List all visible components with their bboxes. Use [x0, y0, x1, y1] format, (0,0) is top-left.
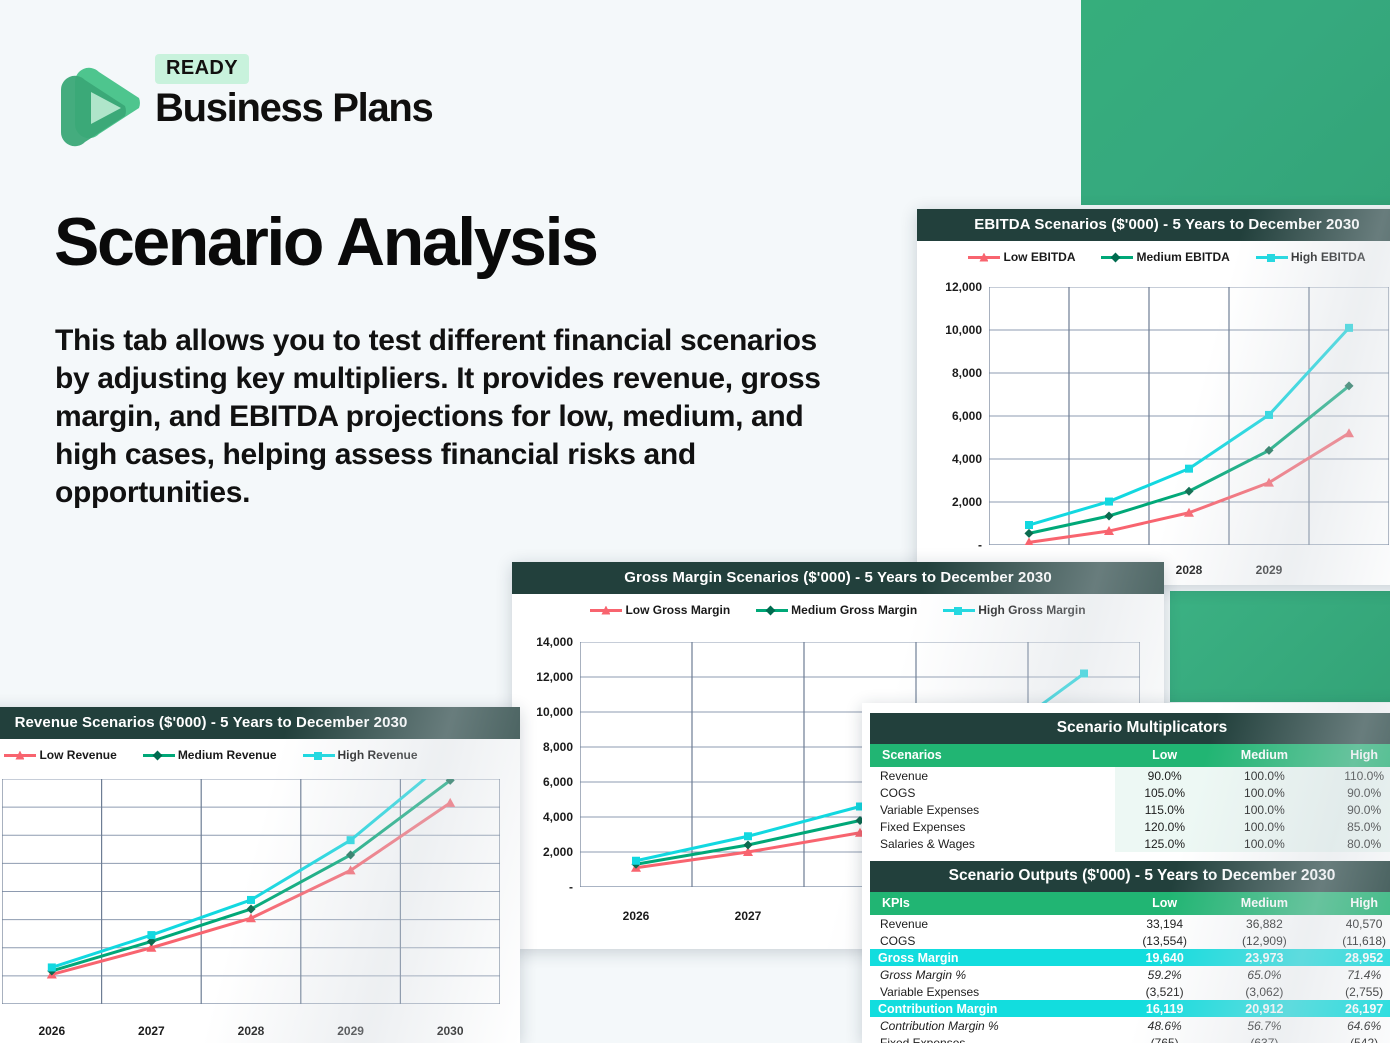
- table-row: Fixed Expenses(765)(637)(542): [870, 1034, 1390, 1043]
- row-label: Salaries & Wages: [870, 835, 1115, 852]
- ebitda-chart-title: EBITDA Scenarios ($'000) - 5 Years to De…: [917, 209, 1390, 241]
- legend-item-high[interactable]: High EBITDA: [1256, 250, 1366, 264]
- col-medium: Medium: [1215, 892, 1315, 915]
- cell-low: 90.0%: [1115, 767, 1215, 784]
- legend-item-high[interactable]: High Gross Margin: [943, 603, 1085, 617]
- table-row: Contribution Margin %48.6%56.7%64.6%: [870, 1017, 1390, 1034]
- cell-high: 26,197: [1314, 1000, 1390, 1017]
- cell-low: 33,194: [1115, 915, 1215, 932]
- cell-medium: 23,973: [1215, 949, 1315, 966]
- gross-margin-legend: Low Gross Margin Medium Gross Margin Hig…: [512, 594, 1164, 621]
- y-axis-tick: 2,000: [952, 495, 989, 509]
- brand-logo: READY Business Plans: [55, 52, 455, 154]
- revenue-chart-title: Revenue Scenarios ($'000) - 5 Years to D…: [0, 707, 520, 739]
- decorative-green-block-top: [1081, 0, 1390, 205]
- y-axis-tick: 10,000: [945, 323, 989, 337]
- x-axis-tick: 2027: [138, 1024, 165, 1038]
- cell-medium: 100.0%: [1215, 818, 1315, 835]
- table-row: Gross Margin %59.2%65.0%71.4%: [870, 966, 1390, 983]
- table-row: Revenue90.0%100.0%110.0%: [870, 767, 1390, 784]
- x-axis-tick: 2030: [437, 1024, 464, 1038]
- cell-high: 28,952: [1314, 949, 1390, 966]
- medium-series-swatch-icon: [756, 609, 788, 612]
- y-axis-tick: 6,000: [543, 775, 580, 789]
- y-axis-tick: 10,000: [536, 705, 580, 719]
- col-high: High: [1314, 892, 1390, 915]
- cell-low: 19,640: [1115, 949, 1215, 966]
- y-axis-tick: 12,000: [945, 280, 989, 294]
- brand-name: Business Plans: [155, 87, 432, 129]
- x-axis-tick: 2029: [337, 1024, 364, 1038]
- cell-medium: 36,882: [1215, 915, 1315, 932]
- legend-item-high[interactable]: High Revenue: [303, 748, 418, 762]
- high-series-swatch-icon: [303, 754, 335, 757]
- ready-badge: READY: [155, 54, 249, 84]
- y-axis-tick: 4,000: [952, 452, 989, 466]
- cell-low: 48.6%: [1115, 1017, 1215, 1034]
- cell-low: 120.0%: [1115, 818, 1215, 835]
- y-axis-tick: 14,000: [536, 635, 580, 649]
- cell-high: (2,755): [1314, 983, 1390, 1000]
- col-low: Low: [1115, 744, 1215, 767]
- high-series-swatch-icon: [1256, 256, 1288, 259]
- ebitda-plot-area: 12,00010,0008,0006,0004,0002,000-2028202…: [989, 287, 1389, 545]
- row-label: COGS: [870, 932, 1115, 949]
- table-header-row: KPIs Low Medium High: [870, 892, 1390, 915]
- legend-item-low[interactable]: Low Revenue: [4, 748, 116, 762]
- outputs-title: Scenario Outputs ($'000) - 5 Years to De…: [870, 861, 1390, 892]
- cell-medium: (3,062): [1215, 983, 1315, 1000]
- y-axis-tick: 4,000: [543, 810, 580, 824]
- legend-item-medium[interactable]: Medium Revenue: [143, 748, 277, 762]
- y-axis-tick: 6,000: [952, 409, 989, 423]
- revenue-chart-panel: Revenue Scenarios ($'000) - 5 Years to D…: [0, 707, 520, 1043]
- cell-low: (13,554): [1115, 932, 1215, 949]
- row-label: Fixed Expenses: [870, 818, 1115, 835]
- revenue-plot-area: 20262027202820292030: [2, 779, 500, 1004]
- revenue-legend: Low Revenue Medium Revenue High Revenue: [0, 739, 520, 766]
- table-row: Fixed Expenses120.0%100.0%85.0%: [870, 818, 1390, 835]
- cell-medium: 100.0%: [1215, 835, 1315, 852]
- play-triangle-logo-icon: [55, 52, 147, 152]
- cell-low: (765): [1115, 1034, 1215, 1043]
- row-label: Gross Margin %: [870, 966, 1115, 983]
- high-series-swatch-icon: [943, 609, 975, 612]
- ebitda-legend: Low EBITDA Medium EBITDA High EBITDA: [917, 241, 1390, 268]
- row-label: Variable Expenses: [870, 801, 1115, 818]
- ebitda-chart-panel: EBITDA Scenarios ($'000) - 5 Years to De…: [917, 209, 1390, 585]
- outputs-table: KPIs Low Medium High Revenue33,19436,882…: [870, 892, 1390, 1043]
- y-axis-tick: 8,000: [543, 740, 580, 754]
- table-row: Gross Margin19,64023,97328,952: [870, 949, 1390, 966]
- cell-medium: 20,912: [1215, 1000, 1315, 1017]
- row-label: Contribution Margin: [870, 1000, 1115, 1017]
- col-kpis: KPIs: [870, 892, 1115, 915]
- low-series-swatch-icon: [968, 256, 1000, 259]
- cell-high: 90.0%: [1314, 801, 1390, 818]
- x-axis-tick: 2026: [38, 1024, 65, 1038]
- multiplicators-title: Scenario Multiplicators: [870, 713, 1390, 744]
- cell-low: 105.0%: [1115, 784, 1215, 801]
- gross-margin-chart-title: Gross Margin Scenarios ($'000) - 5 Years…: [512, 562, 1164, 594]
- cell-high: 71.4%: [1314, 966, 1390, 983]
- cell-medium: 65.0%: [1215, 966, 1315, 983]
- cell-high: 80.0%: [1314, 835, 1390, 852]
- col-scenarios: Scenarios: [870, 744, 1115, 767]
- cell-high: 110.0%: [1314, 767, 1390, 784]
- table-header-row: Scenarios Low Medium High: [870, 744, 1390, 767]
- row-label: Variable Expenses: [870, 983, 1115, 1000]
- cell-high: 85.0%: [1314, 818, 1390, 835]
- cell-medium: 100.0%: [1215, 767, 1315, 784]
- cell-high: 90.0%: [1314, 784, 1390, 801]
- row-label: Contribution Margin %: [870, 1017, 1115, 1034]
- decorative-green-block-middle: [1170, 591, 1390, 702]
- cell-medium: 100.0%: [1215, 801, 1315, 818]
- y-axis-tick: 12,000: [536, 670, 580, 684]
- y-axis-tick: -: [569, 880, 580, 894]
- cell-low: 16,119: [1115, 1000, 1215, 1017]
- slide-canvas: READY Business Plans Scenario Analysis T…: [0, 0, 1390, 1043]
- table-row: Revenue33,19436,88240,570: [870, 915, 1390, 932]
- row-label: Revenue: [870, 915, 1115, 932]
- cell-high: (11,618): [1314, 932, 1390, 949]
- cell-low: (3,521): [1115, 983, 1215, 1000]
- x-axis-tick: 2027: [735, 909, 762, 923]
- page-title: Scenario Analysis: [54, 208, 597, 276]
- low-series-swatch-icon: [4, 754, 36, 757]
- page-description: This tab allows you to test different fi…: [55, 322, 855, 512]
- cell-low: 125.0%: [1115, 835, 1215, 852]
- legend-item-low[interactable]: Low Gross Margin: [590, 603, 730, 617]
- y-axis-tick: 2,000: [543, 845, 580, 859]
- cell-medium: (12,909): [1215, 932, 1315, 949]
- x-axis-tick: 2028: [1176, 563, 1203, 577]
- y-axis-tick: 8,000: [952, 366, 989, 380]
- cell-medium: (637): [1215, 1034, 1315, 1043]
- legend-item-low[interactable]: Low EBITDA: [968, 250, 1075, 264]
- table-row: COGS(13,554)(12,909)(11,618): [870, 932, 1390, 949]
- y-axis-tick: -: [978, 538, 989, 552]
- table-row: Contribution Margin16,11920,91226,197: [870, 1000, 1390, 1017]
- row-label: Fixed Expenses: [870, 1034, 1115, 1043]
- cell-high: 64.6%: [1314, 1017, 1390, 1034]
- low-series-swatch-icon: [590, 609, 622, 612]
- scenario-tables-panel: Scenario Multiplicators Scenarios Low Me…: [862, 703, 1390, 1043]
- multiplicators-table: Scenarios Low Medium High Revenue90.0%10…: [870, 744, 1390, 852]
- cell-low: 59.2%: [1115, 966, 1215, 983]
- legend-item-medium[interactable]: Medium EBITDA: [1101, 250, 1229, 264]
- cell-high: 40,570: [1314, 915, 1390, 932]
- col-high: High: [1314, 744, 1390, 767]
- medium-series-swatch-icon: [143, 754, 175, 757]
- table-row: Variable Expenses115.0%100.0%90.0%: [870, 801, 1390, 818]
- cell-medium: 56.7%: [1215, 1017, 1315, 1034]
- cell-low: 115.0%: [1115, 801, 1215, 818]
- x-axis-tick: 2029: [1256, 563, 1283, 577]
- row-label: Gross Margin: [870, 949, 1115, 966]
- col-low: Low: [1115, 892, 1215, 915]
- table-row: COGS105.0%100.0%90.0%: [870, 784, 1390, 801]
- row-label: COGS: [870, 784, 1115, 801]
- x-axis-tick: 2028: [238, 1024, 265, 1038]
- x-axis-tick: 2026: [623, 909, 650, 923]
- row-label: Revenue: [870, 767, 1115, 784]
- legend-item-medium[interactable]: Medium Gross Margin: [756, 603, 917, 617]
- cell-high: (542): [1314, 1034, 1390, 1043]
- table-row: Variable Expenses(3,521)(3,062)(2,755): [870, 983, 1390, 1000]
- table-row: Salaries & Wages125.0%100.0%80.0%: [870, 835, 1390, 852]
- medium-series-swatch-icon: [1101, 256, 1133, 259]
- cell-medium: 100.0%: [1215, 784, 1315, 801]
- col-medium: Medium: [1215, 744, 1315, 767]
